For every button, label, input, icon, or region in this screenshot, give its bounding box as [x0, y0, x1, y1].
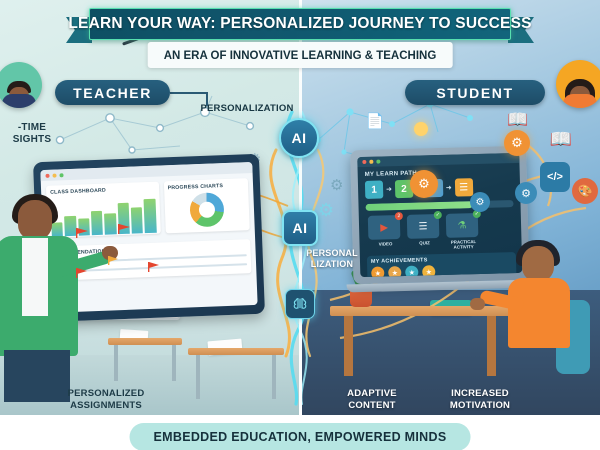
ai-badge-label: AI	[293, 220, 308, 236]
medal-icon: ★	[422, 265, 435, 277]
card-progress-charts[interactable]: PROGRESS CHARTS	[163, 178, 249, 233]
badge-check: ✓	[434, 211, 442, 219]
footer-slogan-pill: EMBEDDED EDUCATION, EMPOWERED MINDS	[130, 423, 471, 450]
role-label-student: STUDENT	[436, 85, 513, 101]
gear-blue-icon: ⚙	[470, 192, 490, 212]
book-icon: 📖	[506, 108, 530, 132]
window-minimize-icon[interactable]	[52, 173, 56, 177]
activity-video[interactable]: ▶ 2 VIDEO	[368, 215, 403, 252]
window-close-icon[interactable]	[362, 160, 366, 164]
avatar-body	[563, 94, 597, 108]
label-line-2: SIGHTS	[0, 134, 78, 146]
donut-chart	[189, 192, 224, 227]
activity-label: PRACTICAL ACTIVITY	[446, 239, 480, 250]
label-line-1: -TIME	[0, 122, 78, 134]
teacher-figure	[0, 200, 90, 400]
student-hand	[470, 298, 485, 310]
badge-count: 2	[395, 212, 403, 220]
avatar-body	[2, 94, 36, 108]
activity-label: QUIZ	[407, 240, 441, 246]
student-head	[522, 246, 554, 282]
window-maximize-icon[interactable]	[59, 173, 63, 177]
label-personalization-center: PERSONAL LIZATION	[300, 248, 364, 270]
activity-quiz[interactable]: ☰ ✓ QUIZ	[407, 214, 442, 251]
label-line-1: PERSONALIZED	[58, 388, 154, 400]
progress-bar-track	[365, 200, 513, 211]
gear-outline-icon: ⚙	[330, 176, 343, 194]
card-title: CLASS DASHBOARD	[50, 186, 155, 196]
palette-icon: 🎨	[572, 178, 598, 204]
label-personalized-assignments: PERSONALIZED ASSIGNMENTS	[58, 388, 154, 412]
connector-line-teacher	[170, 92, 206, 94]
page-subtitle: AN ERA OF INNOVATIVE LEARNING & TEACHING	[164, 50, 437, 62]
teacher-head	[18, 200, 52, 240]
path-step-final-list-icon[interactable]: ☰	[454, 178, 472, 196]
medal-list: ★ ★ ★ ★	[371, 263, 512, 277]
gear-orange-icon: ⚙	[410, 170, 438, 198]
page-title: LEARN YOUR WAY: PERSONALIZED JOURNEY TO …	[68, 15, 531, 33]
window-maximize-icon[interactable]	[376, 160, 380, 164]
activity-practical[interactable]: ⚗ ✓ PRACTICAL ACTIVITY	[446, 213, 481, 250]
label-line-1: PERSONAL	[300, 248, 364, 259]
subtitle-banner: AN ERA OF INNOVATIVE LEARNING & TEACHING	[148, 42, 453, 68]
gear-orange-icon: ⚙	[504, 130, 530, 156]
laptop-window-bar	[357, 153, 519, 167]
ai-badge-middle[interactable]: AI	[282, 210, 318, 246]
student-figure	[498, 246, 588, 376]
role-badge-student[interactable]: STUDENT	[405, 80, 545, 105]
achievements-panel[interactable]: MY ACHIEVEMENTS ★ ★ ★ ★	[367, 252, 517, 277]
avatar-student	[556, 60, 600, 108]
label-line-1: INCREASED	[434, 388, 526, 400]
learn-path-steps: 1 ➜ 2 ➜ 3 ➜ ☰	[365, 177, 520, 199]
medal-icon: ★	[388, 266, 401, 277]
progress-bar-fill	[365, 201, 472, 211]
label-increased-motivation: INCREASED MOTIVATION	[434, 388, 526, 412]
teacher-shirt	[22, 238, 48, 316]
label-line-2: CONTENT	[332, 400, 412, 412]
label-line-1: ADAPTIVE	[332, 388, 412, 400]
book-icon: 📖	[548, 126, 574, 152]
window-minimize-icon[interactable]	[369, 160, 373, 164]
gear-blue-icon: ⚙	[515, 182, 537, 204]
activity-label: VIDEO	[368, 241, 402, 247]
label-adaptive-content: ADAPTIVE CONTENT	[332, 388, 412, 412]
card-title: PROGRESS CHARTS	[168, 182, 245, 191]
lightbulb-icon	[414, 122, 428, 136]
title-banner: LEARN YOUR WAY: PERSONALIZED JOURNEY TO …	[89, 8, 511, 40]
ai-badge-label: AI	[292, 130, 307, 146]
medal-icon: ★	[405, 266, 418, 277]
ai-badge-top[interactable]: AI	[279, 118, 319, 158]
learn-path-title: MY LEARN PATH	[365, 168, 520, 178]
label-line-2: MOTIVATION	[434, 400, 526, 412]
path-step-1[interactable]: 1	[365, 180, 383, 198]
student-shirt	[508, 278, 570, 348]
role-label-teacher: TEACHER	[73, 85, 152, 101]
code-gear-icon: </>	[540, 162, 570, 192]
connector-drop-teacher	[206, 92, 208, 106]
label-real-time-insights: -TIME SIGHTS	[0, 122, 78, 146]
infographic-canvas: LEARN YOUR WAY: PERSONALIZED JOURNEY TO …	[0, 0, 600, 450]
avatar-teacher	[0, 62, 42, 108]
gear-outline-icon: ⚙	[318, 200, 334, 221]
arrow-icon: ➜	[446, 184, 452, 192]
teacher-hand	[102, 246, 118, 260]
arrow-icon: ➜	[386, 185, 392, 193]
label-line-2: LIZATION	[300, 259, 364, 270]
role-badge-teacher[interactable]: TEACHER	[55, 80, 170, 105]
brain-icon	[285, 289, 315, 319]
footer-slogan-text: EMBEDDED EDUCATION, EMPOWERED MINDS	[154, 430, 447, 444]
document-icon: 📄	[364, 110, 386, 132]
label-line-2: ASSIGNMENTS	[58, 400, 154, 412]
medal-icon: ★	[371, 267, 384, 277]
window-close-icon[interactable]	[45, 173, 49, 177]
